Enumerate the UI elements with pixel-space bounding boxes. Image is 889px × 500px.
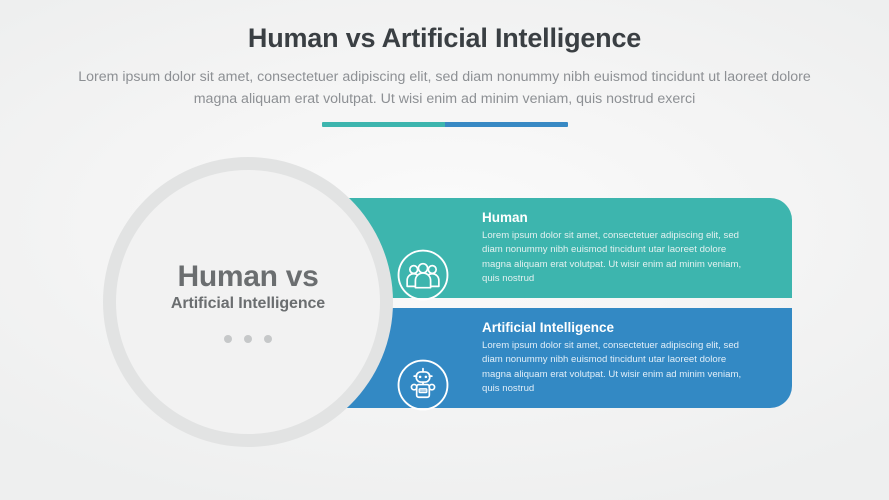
header: Human vs Artificial Intelligence Lorem i…	[0, 22, 889, 127]
panel-human-text: Human Lorem ipsum dolor sit amet, consec…	[482, 210, 750, 286]
divider-segment-blue	[445, 122, 568, 127]
panel-human-heading: Human	[482, 210, 750, 226]
panel-ai-heading: Artificial Intelligence	[482, 320, 750, 336]
dot-1	[224, 335, 232, 343]
group-people-icon	[396, 248, 450, 302]
dot-3	[264, 335, 272, 343]
panel-ai-text: Artificial Intelligence Lorem ipsum dolo…	[482, 320, 750, 396]
divider-segment-teal	[322, 122, 445, 127]
header-divider	[322, 122, 568, 127]
infographic-slide: Human vs Artificial Intelligence Lorem i…	[0, 0, 889, 500]
panel-human-description: Lorem ipsum dolor sit amet, consectetuer…	[482, 229, 750, 286]
center-circle-title: Human vs	[178, 261, 319, 293]
robot-icon	[396, 358, 450, 412]
dots-indicator	[224, 335, 272, 343]
center-circle: Human vs Artificial Intelligence	[116, 170, 380, 434]
page-title: Human vs Artificial Intelligence	[0, 22, 889, 56]
panel-ai-description: Lorem ipsum dolor sit amet, consectetuer…	[482, 339, 750, 396]
center-circle-subtitle: Artificial Intelligence	[171, 295, 325, 313]
page-subtitle: Lorem ipsum dolor sit amet, consectetuer…	[65, 66, 825, 110]
dot-2	[244, 335, 252, 343]
